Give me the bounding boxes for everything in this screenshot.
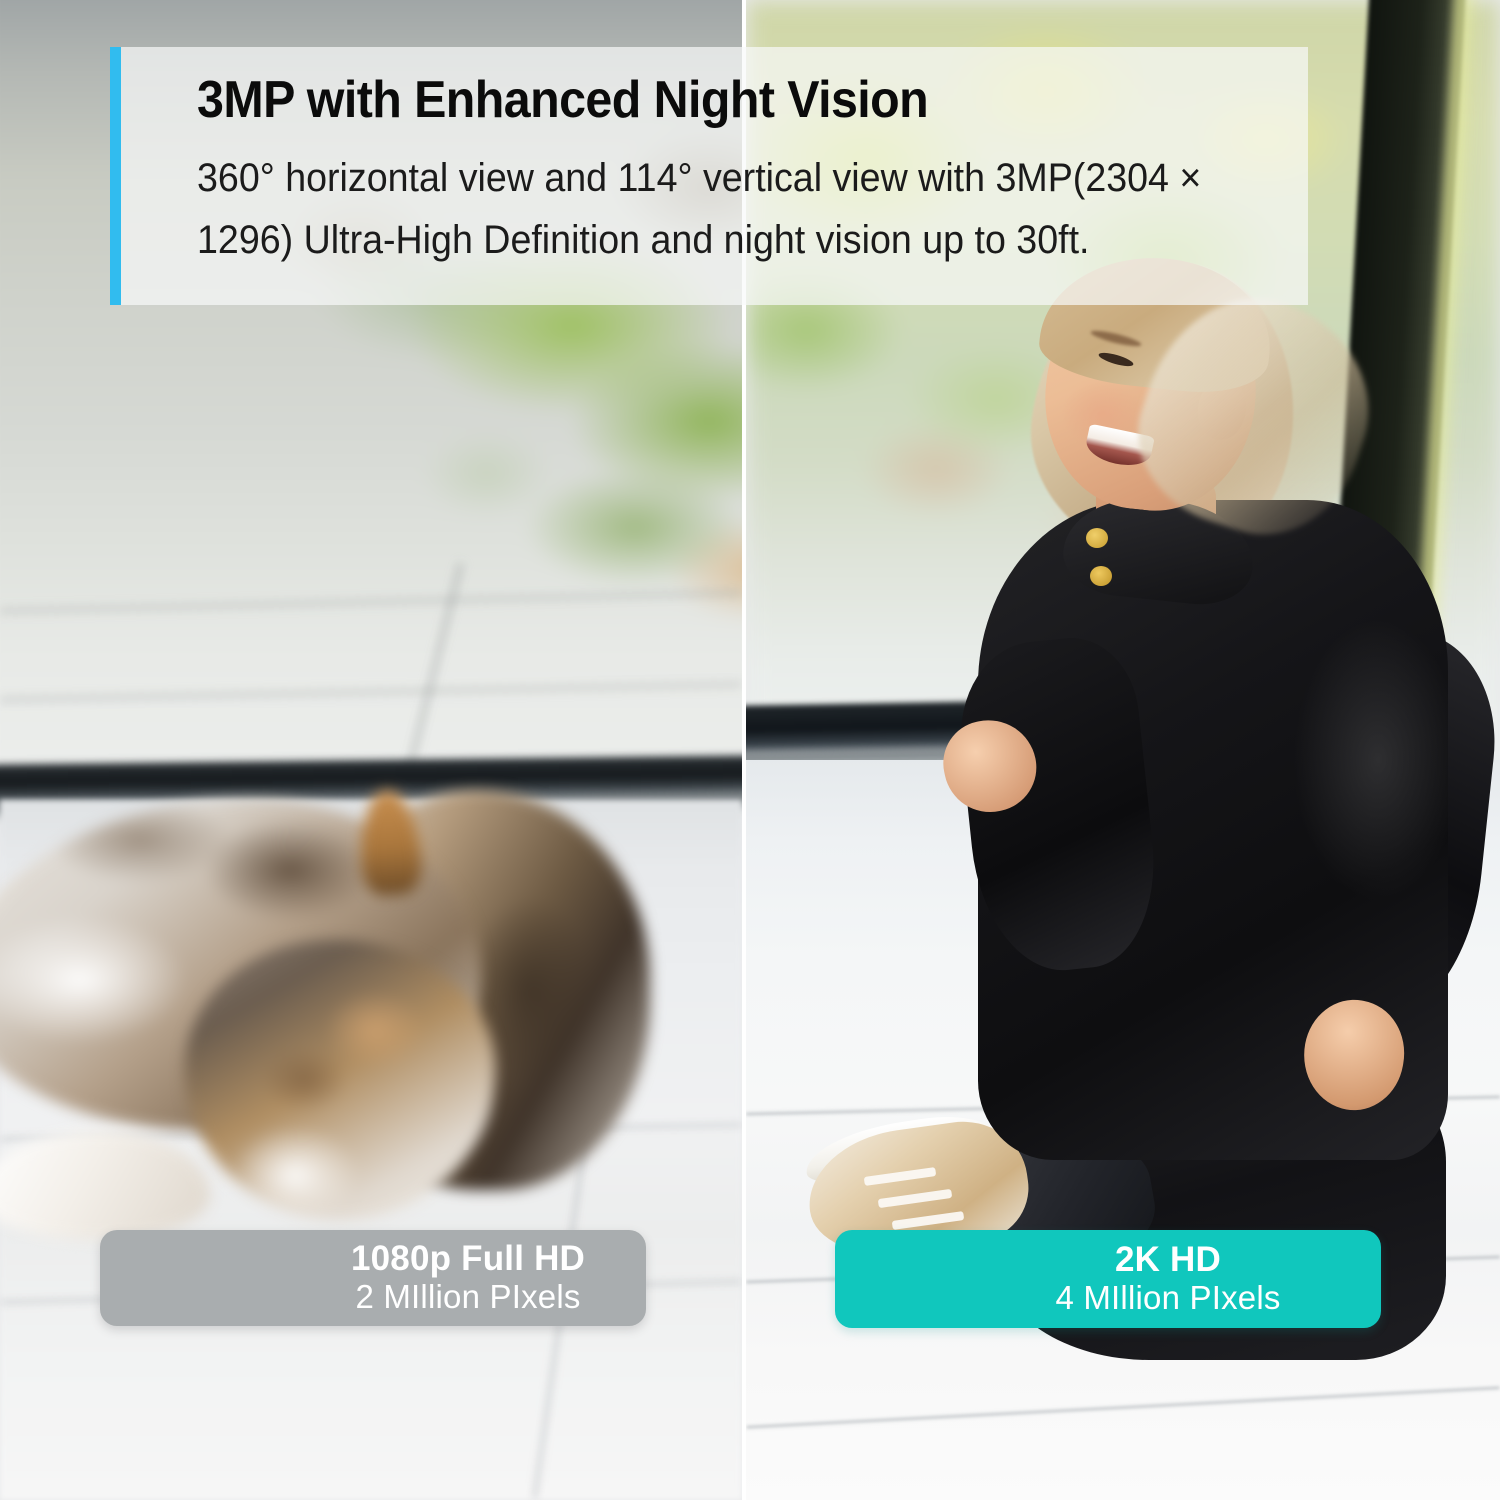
product-feature-image: 3MP with Enhanced Night Vision 360° hori…	[0, 0, 1500, 1500]
resolution-badge-1080p: 1080p Full HD 2 MIllion PIxels	[100, 1230, 646, 1326]
accent-bar	[110, 47, 121, 305]
child-sweater-button	[1086, 528, 1108, 548]
badge-subtitle-2k: 4 MIllion PIxels	[1055, 1279, 1280, 1317]
panel-text-block: 3MP with Enhanced Night Vision 360° hori…	[197, 69, 1287, 271]
page-title: 3MP with Enhanced Night Vision	[197, 69, 1211, 131]
resolution-badge-2k: 2K HD 4 MIllion PIxels	[835, 1230, 1381, 1328]
badge-subtitle-1080p: 2 MIllion PIxels	[355, 1278, 580, 1316]
badge-title-2k: 2K HD	[1115, 1241, 1221, 1279]
feature-info-panel: 3MP with Enhanced Night Vision 360° hori…	[110, 47, 1308, 305]
badge-title-1080p: 1080p Full HD	[351, 1240, 585, 1278]
child-sweater-button	[1090, 566, 1112, 586]
feature-description: 360° horizontal view and 114° vertical v…	[197, 147, 1287, 271]
